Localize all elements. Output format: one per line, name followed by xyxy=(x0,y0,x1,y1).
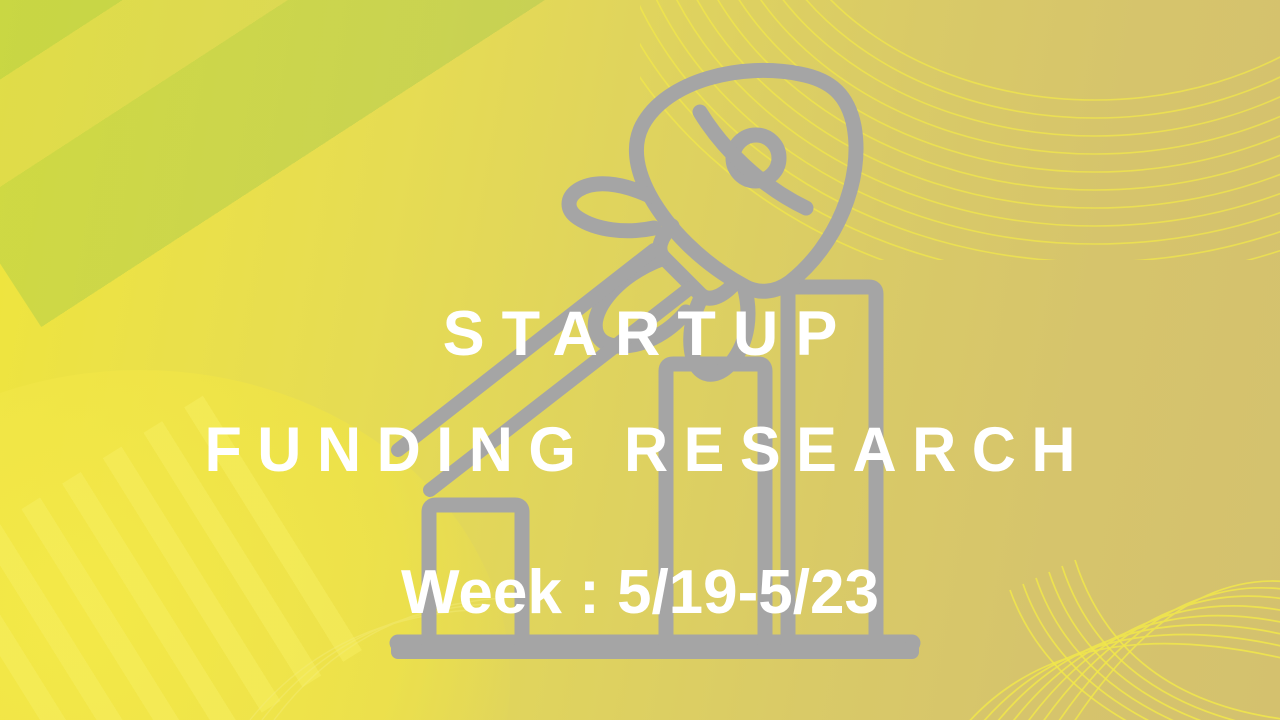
slide-canvas: STARTUP FUNDING RESEARCH Week : 5/19-5/2… xyxy=(0,0,1280,720)
page-title: STARTUP xyxy=(0,303,1280,366)
page-subtitle: FUNDING RESEARCH xyxy=(19,419,1261,482)
text-layer: STARTUP FUNDING RESEARCH Week : 5/19-5/2… xyxy=(0,0,1280,720)
week-label: Week : 5/19-5/23 xyxy=(0,562,1280,624)
